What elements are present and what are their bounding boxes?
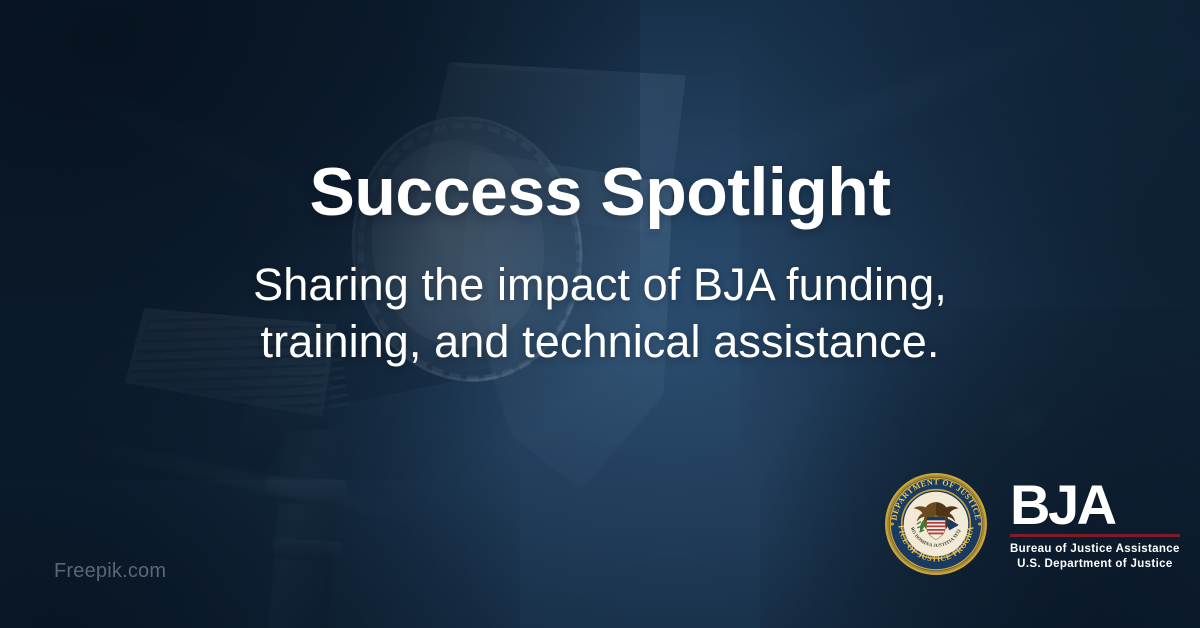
page-subtitle-line-1: Sharing the impact of BJA funding, — [0, 256, 1200, 313]
success-spotlight-banner: Success Spotlight Sharing the impact of … — [0, 0, 1200, 628]
doj-ojp-seal-icon: DEPARTMENT OF JUSTICE OFFICE OF JUSTICE … — [884, 472, 988, 576]
bja-tagline-line-2: U.S. Department of Justice — [1010, 557, 1180, 572]
bja-logo: BJA Bureau of Justice Assistance U.S. De… — [1010, 476, 1180, 572]
headline-block: Success Spotlight Sharing the impact of … — [0, 158, 1200, 370]
bja-wordmark: BJA — [1010, 480, 1180, 529]
bja-tagline: Bureau of Justice Assistance U.S. Depart… — [1010, 542, 1180, 572]
bja-divider-rule — [1010, 534, 1180, 537]
page-title: Success Spotlight — [0, 158, 1200, 226]
agency-logo-group: DEPARTMENT OF JUSTICE OFFICE OF JUSTICE … — [884, 472, 1180, 576]
bja-tagline-line-1: Bureau of Justice Assistance — [1010, 542, 1180, 557]
page-subtitle-line-2: training, and technical assistance. — [0, 313, 1200, 370]
stock-photo-watermark: Freepik.com — [54, 560, 166, 583]
page-subtitle: Sharing the impact of BJA funding, train… — [0, 256, 1200, 370]
